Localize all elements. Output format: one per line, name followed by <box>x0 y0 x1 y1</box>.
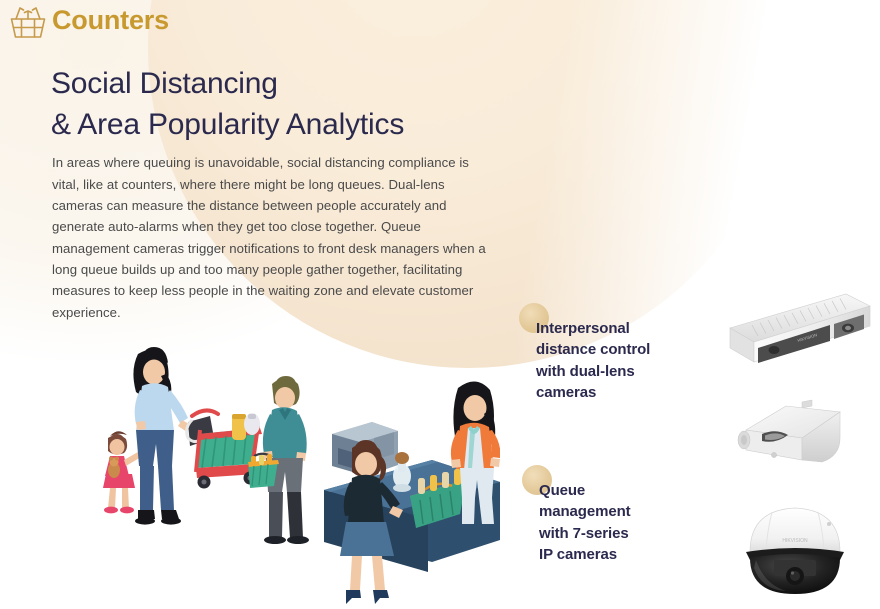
shopping-basket-icon <box>6 4 50 44</box>
product-image-box-camera <box>728 388 858 474</box>
body-paragraph: In areas where queuing is unavoidable, s… <box>52 152 490 323</box>
feature-label: Queue management with 7-series IP camera… <box>539 480 714 565</box>
feature-callout-interpersonal-distance: Interpersonal distance control with dual… <box>536 318 711 403</box>
retail-checkout-queue-illustration <box>80 330 500 609</box>
product-image-dual-lens-bar-camera: HIKVISION <box>718 292 874 370</box>
feature-callout-queue-management: Queue management with 7-series IP camera… <box>539 480 714 565</box>
page-root: Counters Social Distancing & Area Popula… <box>0 0 880 609</box>
feature-label: Interpersonal distance control with dual… <box>536 318 711 403</box>
page-title: Social Distancing & Area Popularity Anal… <box>51 64 404 146</box>
page-kicker: Counters <box>52 6 169 36</box>
product-image-dome-camera: HIKVISION <box>734 498 856 598</box>
svg-text:HIKVISION: HIKVISION <box>782 538 808 544</box>
